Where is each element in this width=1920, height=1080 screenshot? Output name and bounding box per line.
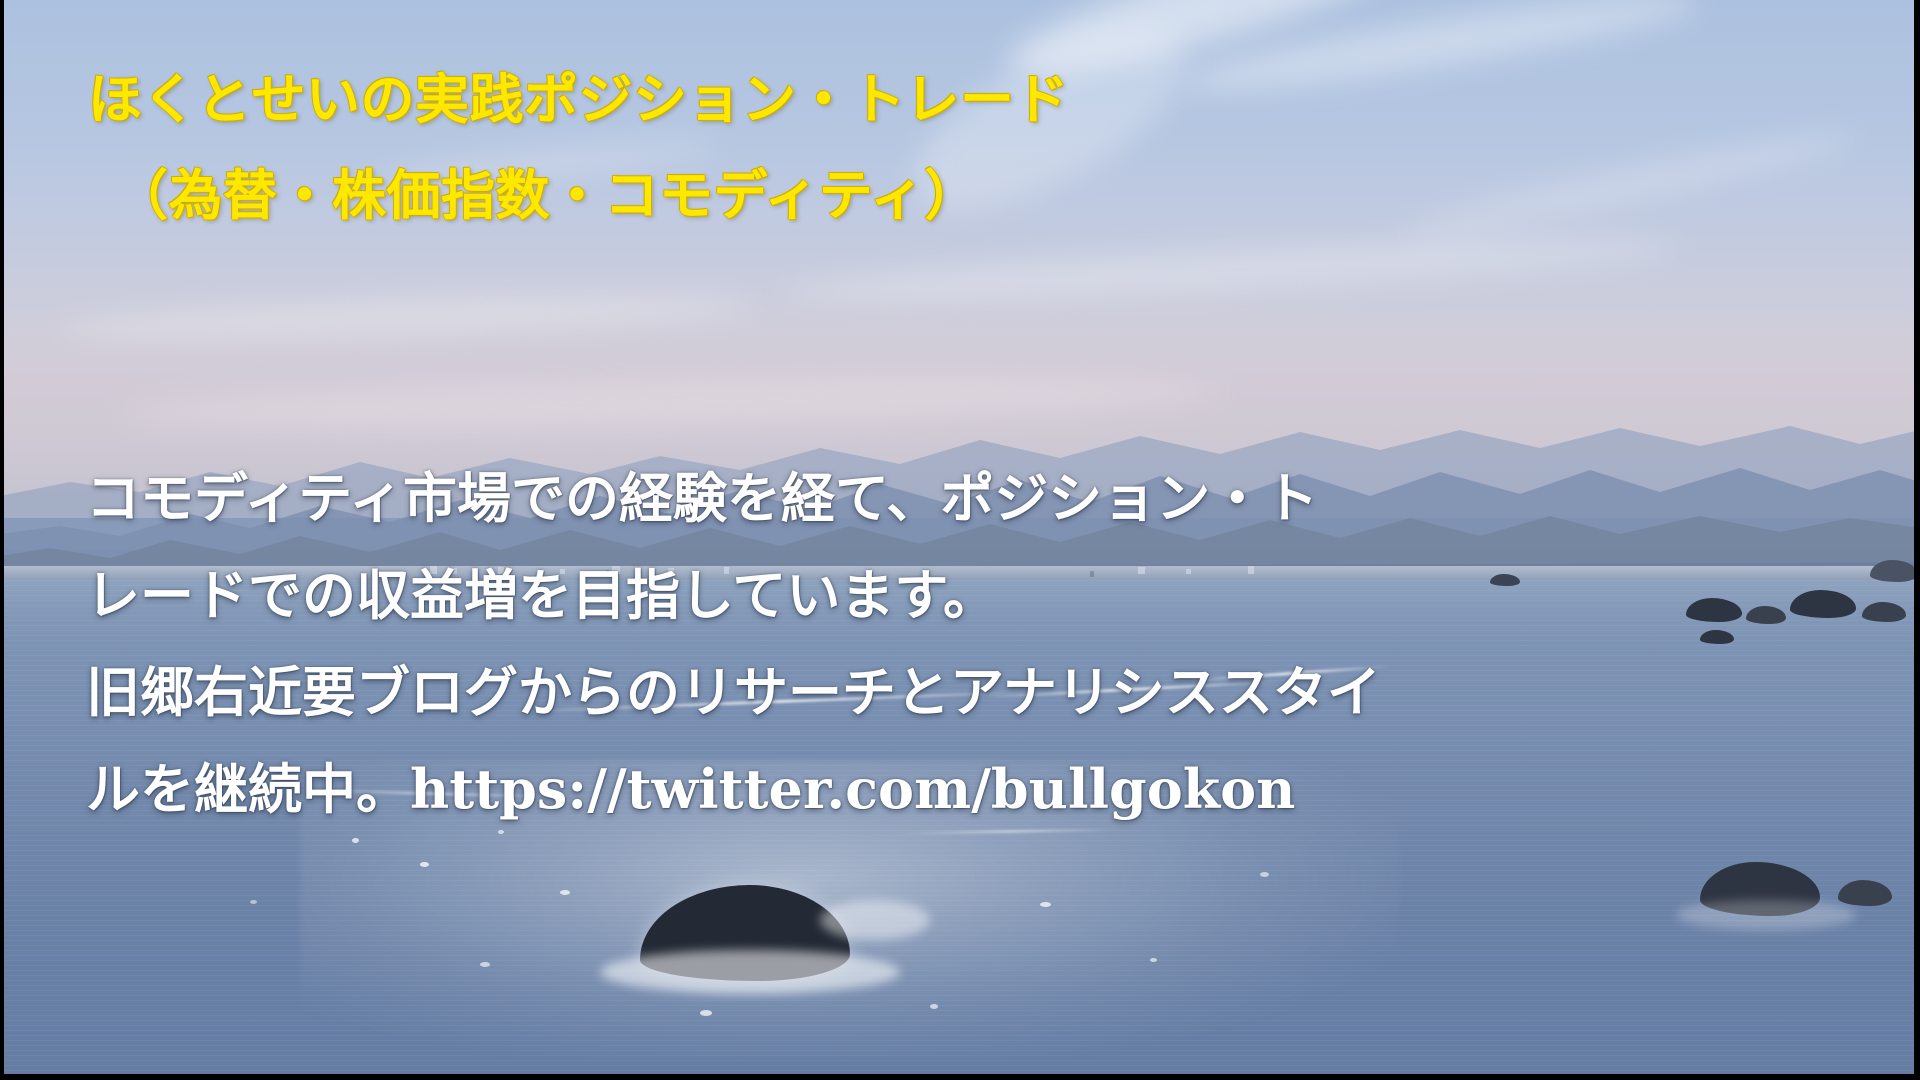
title-line-2: （為替・株価指数・コモディティ） — [114, 148, 1588, 244]
title-block: ほくとせいの実践ポジション・トレード （為替・株価指数・コモディティ） — [88, 52, 1588, 244]
description-line-4-prefix: ルを継続中。 — [86, 758, 410, 821]
description-line-4: ルを継続中。https://twitter.com/bullgokon — [86, 741, 1646, 838]
frame-bar-left — [0, 0, 4, 1080]
title-line-1: ほくとせいの実践ポジション・トレード — [88, 52, 1588, 148]
frame-bar-bottom — [0, 1074, 1920, 1080]
description-line-1: コモディティ市場での経験を経て、ポジション・ト — [86, 450, 1646, 547]
description-line-2: レードでの収益増を目指しています。 — [86, 547, 1646, 644]
text-overlay: ほくとせいの実践ポジション・トレード （為替・株価指数・コモディティ） コモディ… — [0, 0, 1920, 1080]
description-block: コモディティ市場での経験を経て、ポジション・ト レードでの収益増を目指しています… — [86, 450, 1646, 838]
twitter-profile-url[interactable]: https://twitter.com/bullgokon — [410, 757, 1295, 821]
frame-bar-right — [1914, 0, 1920, 1080]
description-line-3: 旧郷右近要ブログからのリサーチとアナリシススタイ — [86, 644, 1646, 741]
banner-card: ほくとせいの実践ポジション・トレード （為替・株価指数・コモディティ） コモディ… — [0, 0, 1920, 1080]
